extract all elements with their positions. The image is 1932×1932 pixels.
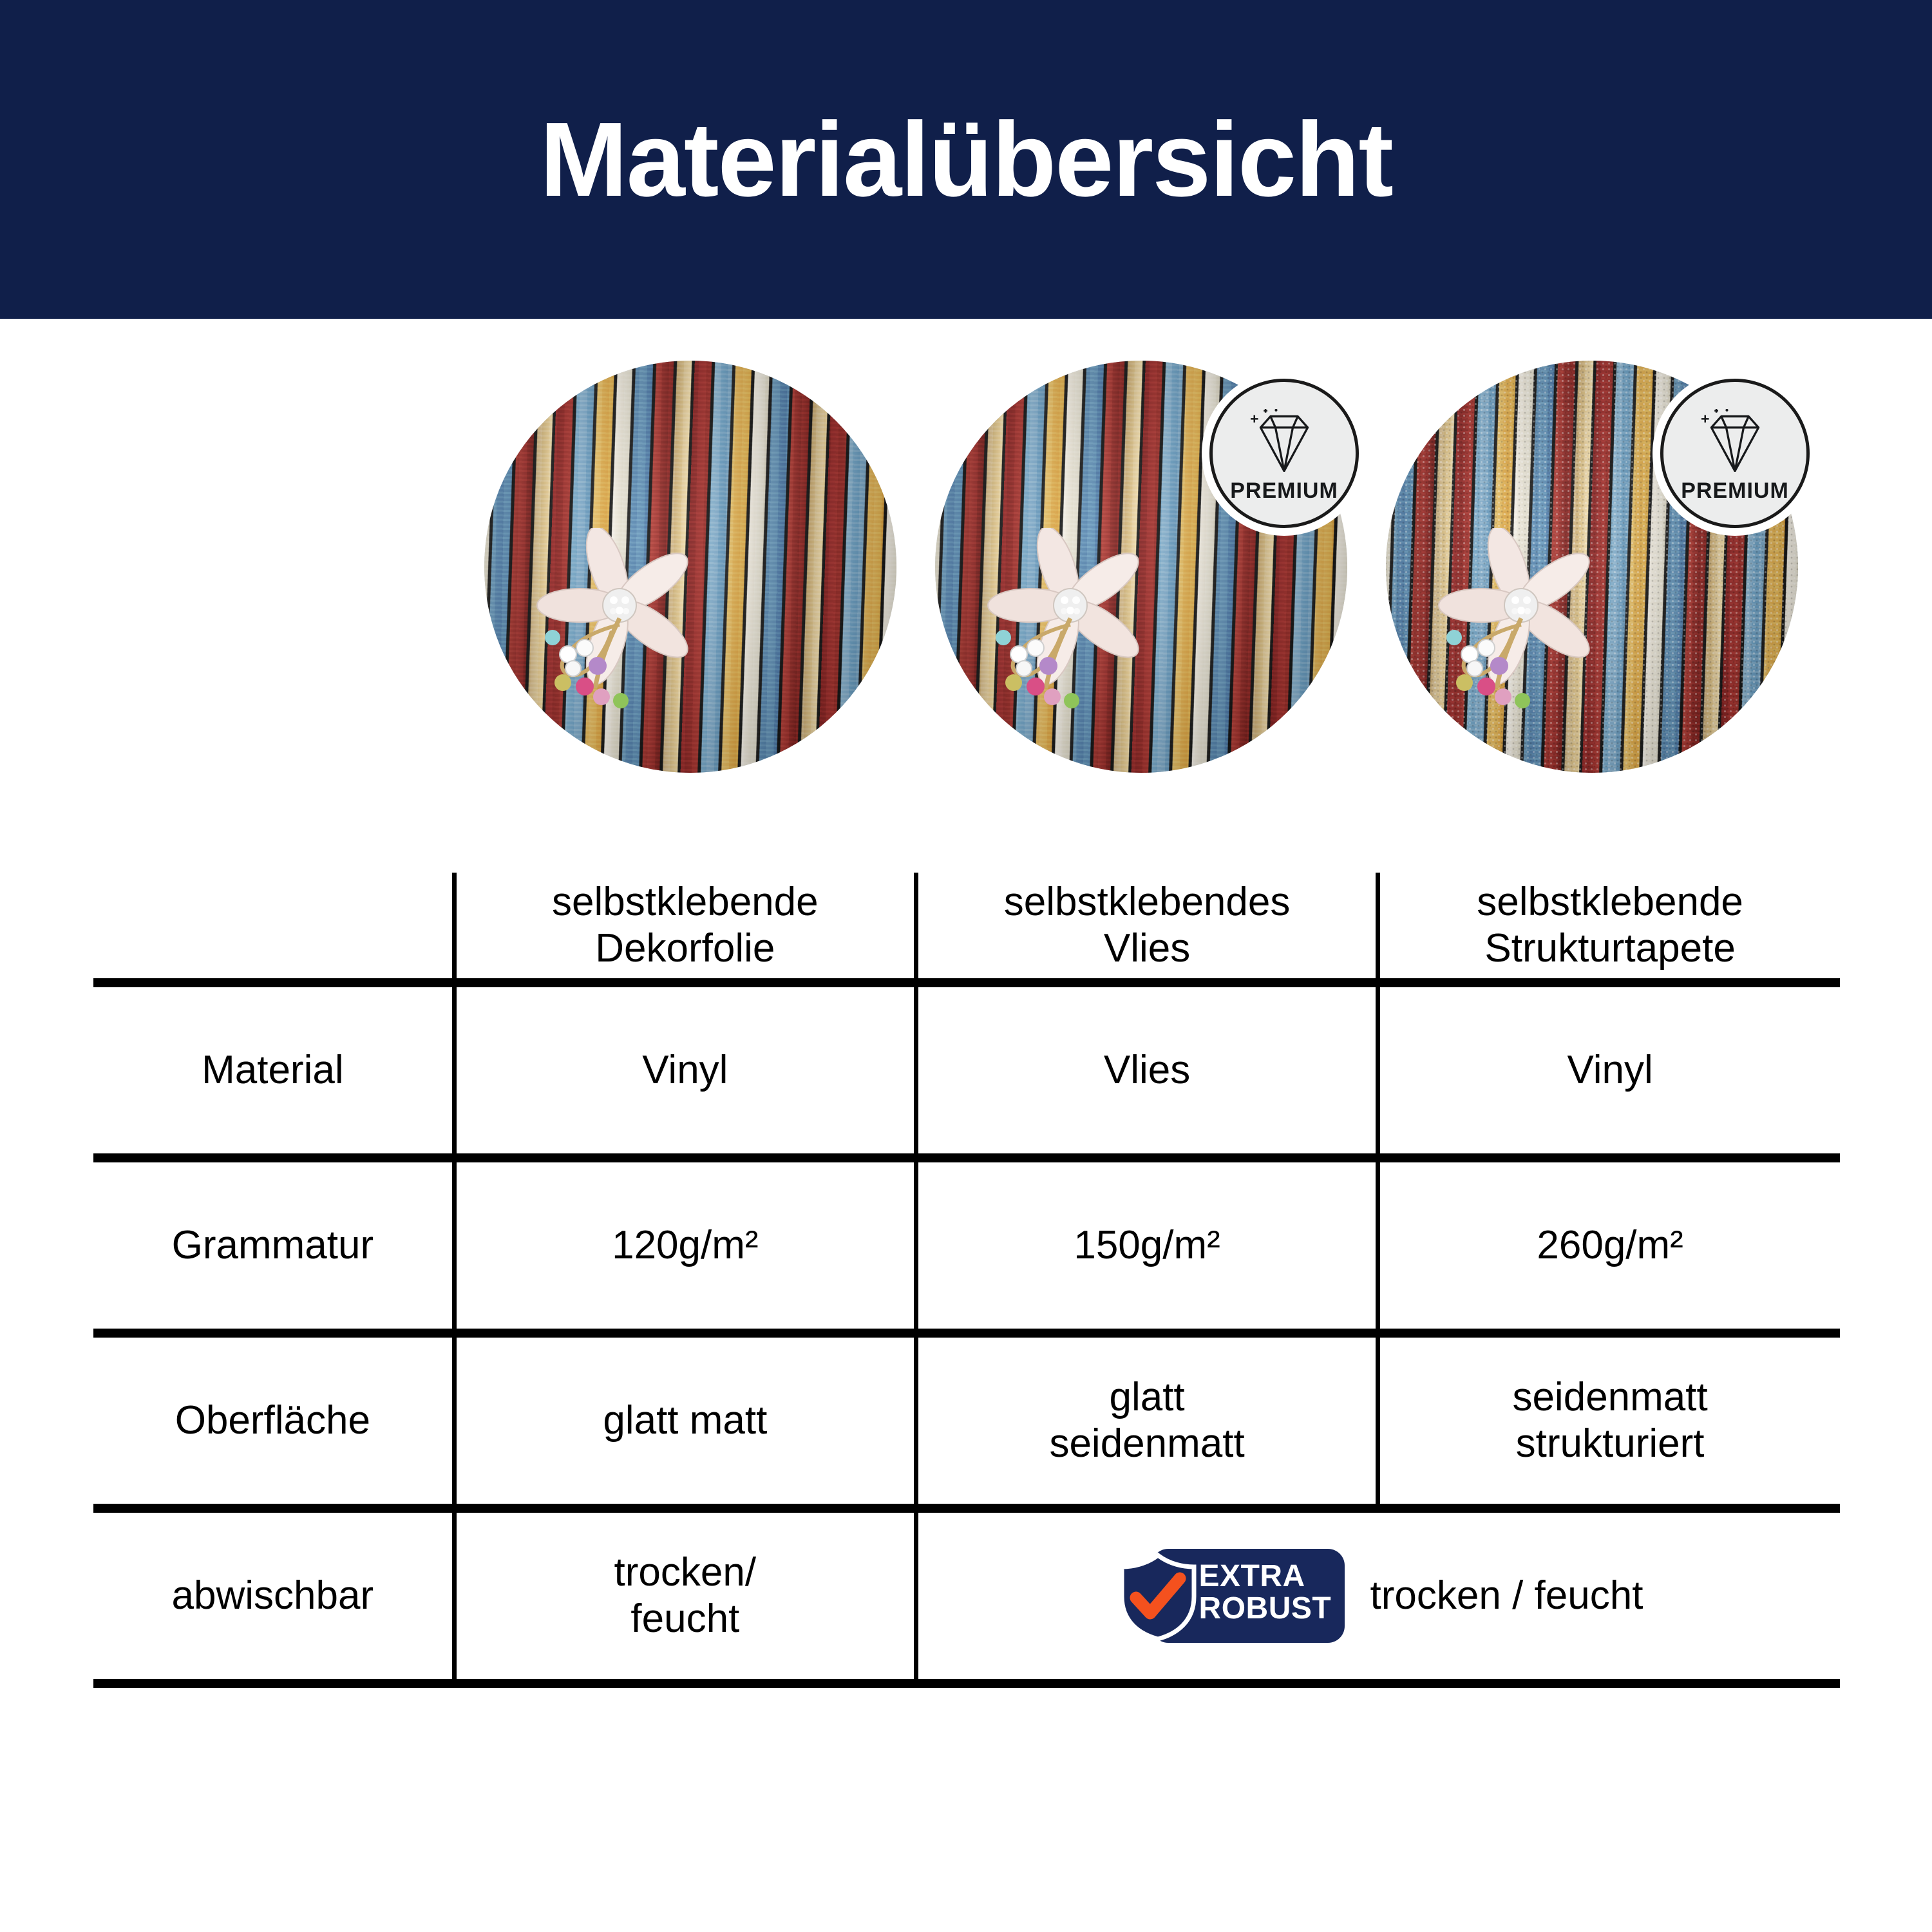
product-preview-strukturtapete[interactable]: PREMIUM: [1386, 361, 1798, 773]
product-preview-dekorfolie[interactable]: [484, 361, 896, 773]
material-comparison-table: selbstklebende Dekorfolie selbstklebende…: [93, 873, 1840, 1688]
bottom-rule-cell: [93, 1683, 454, 1688]
material-overview-page: Materialübersicht: [0, 0, 1932, 1932]
cell-abwischbar-vlies-strukturtapete: EXTRA ROBUST trocken / feucht: [916, 1508, 1840, 1683]
extra-robust-badge: EXTRA ROBUST: [1115, 1549, 1345, 1643]
cell-oberflaeche-dekorfolie: glatt matt: [454, 1333, 916, 1508]
cell-abwischbar-value: trocken / feucht: [1370, 1573, 1643, 1619]
cell-material-strukturtapete: Vinyl: [1378, 983, 1840, 1158]
diamond-icon: [1698, 409, 1772, 476]
cell-abwischbar-dekorfolie: trocken/ feucht: [454, 1508, 916, 1683]
table-corner-cell: [93, 873, 454, 983]
diamond-icon: [1247, 409, 1321, 476]
premium-label: PREMIUM: [1681, 480, 1789, 502]
premium-label: PREMIUM: [1230, 480, 1338, 502]
cell-line1: seidenmatt: [1512, 1375, 1707, 1419]
bottom-rule-cell: [1378, 1683, 1840, 1688]
column-header-line1: selbstklebende: [1477, 880, 1743, 924]
page-title: Materialübersicht: [540, 107, 1392, 213]
bottom-rule-cell: [916, 1683, 1378, 1688]
page-header: Materialübersicht: [0, 0, 1932, 319]
cell-line2: seidenmatt: [1049, 1421, 1244, 1466]
cell-grammatur-vlies: 150g/m²: [916, 1158, 1378, 1333]
table-row: Grammatur 120g/m² 150g/m² 260g/m²: [93, 1158, 1840, 1333]
column-header-dekorfolie: selbstklebende Dekorfolie: [454, 873, 916, 983]
cell-oberflaeche-vlies: glatt seidenmatt: [916, 1333, 1378, 1508]
cell-line1: glatt: [1109, 1375, 1184, 1419]
cell-material-dekorfolie: Vinyl: [454, 983, 916, 1158]
premium-badge: PREMIUM: [1660, 379, 1810, 528]
table-header-row: selbstklebende Dekorfolie selbstklebende…: [93, 873, 1840, 983]
cell-line2: strukturiert: [1516, 1421, 1705, 1466]
product-preview-vlies[interactable]: PREMIUM: [935, 361, 1347, 773]
extra-robust-line1: EXTRA: [1199, 1559, 1305, 1593]
column-header-line1: selbstklebendes: [1004, 880, 1291, 924]
column-header-line2: Vlies: [1104, 926, 1190, 971]
column-header-line1: selbstklebende: [552, 880, 819, 924]
cell-grammatur-dekorfolie: 120g/m²: [454, 1158, 916, 1333]
table-row: abwischbar trocken/ feucht: [93, 1508, 1840, 1683]
cell-line1: trocken/: [614, 1550, 757, 1595]
cell-grammatur-strukturtapete: 260g/m²: [1378, 1158, 1840, 1333]
stone-vignette: [484, 361, 896, 773]
row-label-grammatur: Grammatur: [93, 1158, 454, 1333]
column-header-line2: Strukturtapete: [1484, 926, 1735, 971]
cell-material-vlies: Vlies: [916, 983, 1378, 1158]
premium-badge: PREMIUM: [1209, 379, 1359, 528]
extra-robust-line2: ROBUST: [1199, 1593, 1340, 1625]
bottom-rule-cell: [454, 1683, 916, 1688]
shield-check-icon: [1115, 1551, 1200, 1642]
row-label-material: Material: [93, 983, 454, 1158]
row-label-oberflaeche: Oberfläche: [93, 1333, 454, 1508]
table-row: Oberfläche glatt matt glatt seidenmatt s…: [93, 1333, 1840, 1508]
product-image-dekorfolie: [484, 361, 896, 773]
column-header-vlies: selbstklebendes Vlies: [916, 873, 1378, 983]
extra-robust-text: EXTRA ROBUST: [1199, 1560, 1340, 1625]
table-bottom-rule: [93, 1683, 1840, 1688]
row-label-abwischbar: abwischbar: [93, 1508, 454, 1683]
cell-oberflaeche-strukturtapete: seidenmatt strukturiert: [1378, 1333, 1840, 1508]
column-header-strukturtapete: selbstklebende Strukturtapete: [1378, 873, 1840, 983]
cell-line2: feucht: [630, 1596, 739, 1641]
product-preview-row: PREMIUM: [0, 341, 1932, 792]
table-row: Material Vinyl Vlies Vinyl: [93, 983, 1840, 1158]
column-header-line2: Dekorfolie: [595, 926, 775, 971]
